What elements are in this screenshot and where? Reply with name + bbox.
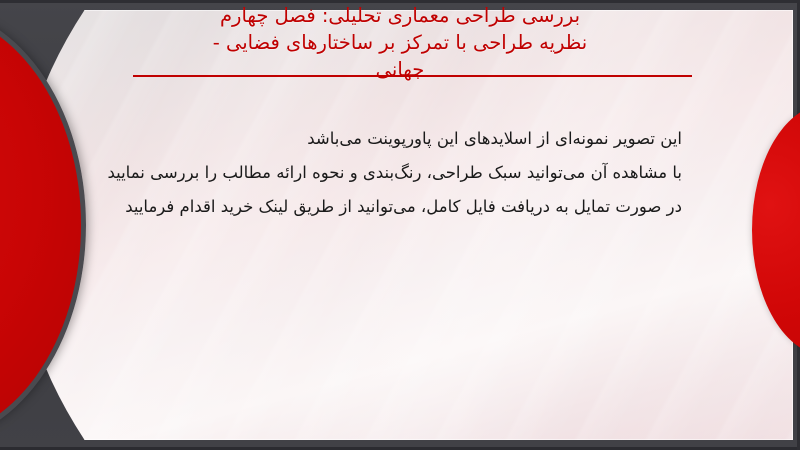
presentation-slide: بررسی طراحی معماری تحلیلی: فصل چهارم نظر…: [0, 0, 800, 450]
title-divider-rule: [133, 75, 692, 77]
body-line-2: با مشاهده آن می‌توانید سبک طراحی، رنگ‌بن…: [122, 156, 682, 190]
slide-title: بررسی طراحی معماری تحلیلی: فصل چهارم نظر…: [90, 2, 710, 83]
slide-title-block: بررسی طراحی معماری تحلیلی: فصل چهارم نظر…: [90, 2, 710, 83]
body-line-3: در صورت تمایل به دریافت فایل کامل، می‌تو…: [122, 190, 682, 224]
slide-body-block: این تصویر نمونه‌ای از اسلایدهای این پاور…: [122, 122, 682, 224]
body-line-1: این تصویر نمونه‌ای از اسلایدهای این پاور…: [122, 122, 682, 156]
